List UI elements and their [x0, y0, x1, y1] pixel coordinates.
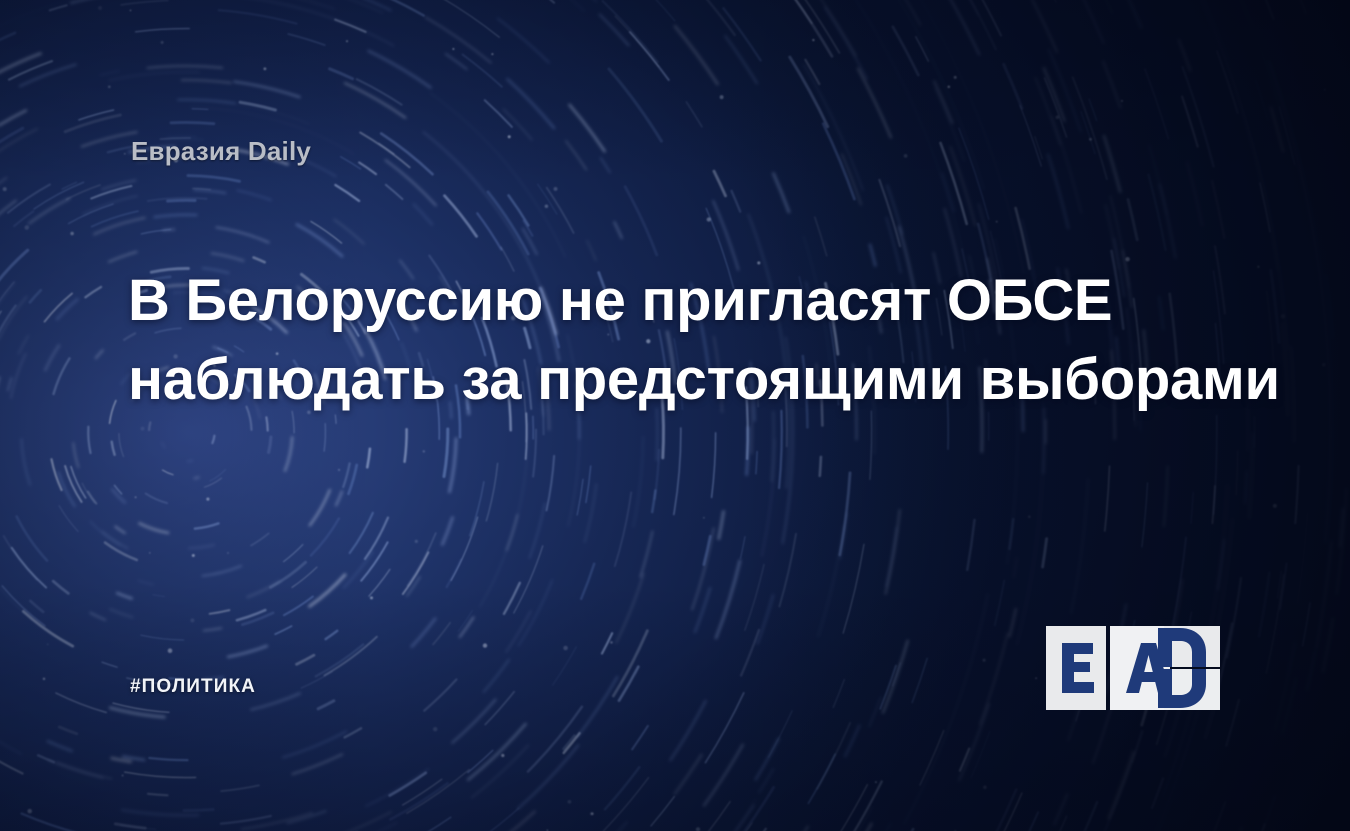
- headline-line-1: В Белоруссию не пригласят ОБСЕ: [128, 262, 1238, 341]
- category-tag[interactable]: #ПОЛИТИКА: [130, 676, 256, 698]
- logo-tile-d-lower: [1158, 669, 1220, 710]
- headline: В Белоруссию не пригласят ОБСЕ наблюдать…: [128, 262, 1238, 420]
- brand-name: Евразия Daily: [131, 136, 311, 167]
- headline-line-2: наблюдать за предстоящими выборами: [128, 341, 1238, 420]
- logo-tile-e: [1046, 626, 1106, 710]
- eadaily-logo: [1046, 626, 1224, 710]
- card-content: Евразия Daily В Белоруссию не пригласят …: [0, 0, 1350, 831]
- social-share-card: Евразия Daily В Белоруссию не пригласят …: [0, 0, 1350, 831]
- logo-tile-d-upper: [1158, 626, 1220, 667]
